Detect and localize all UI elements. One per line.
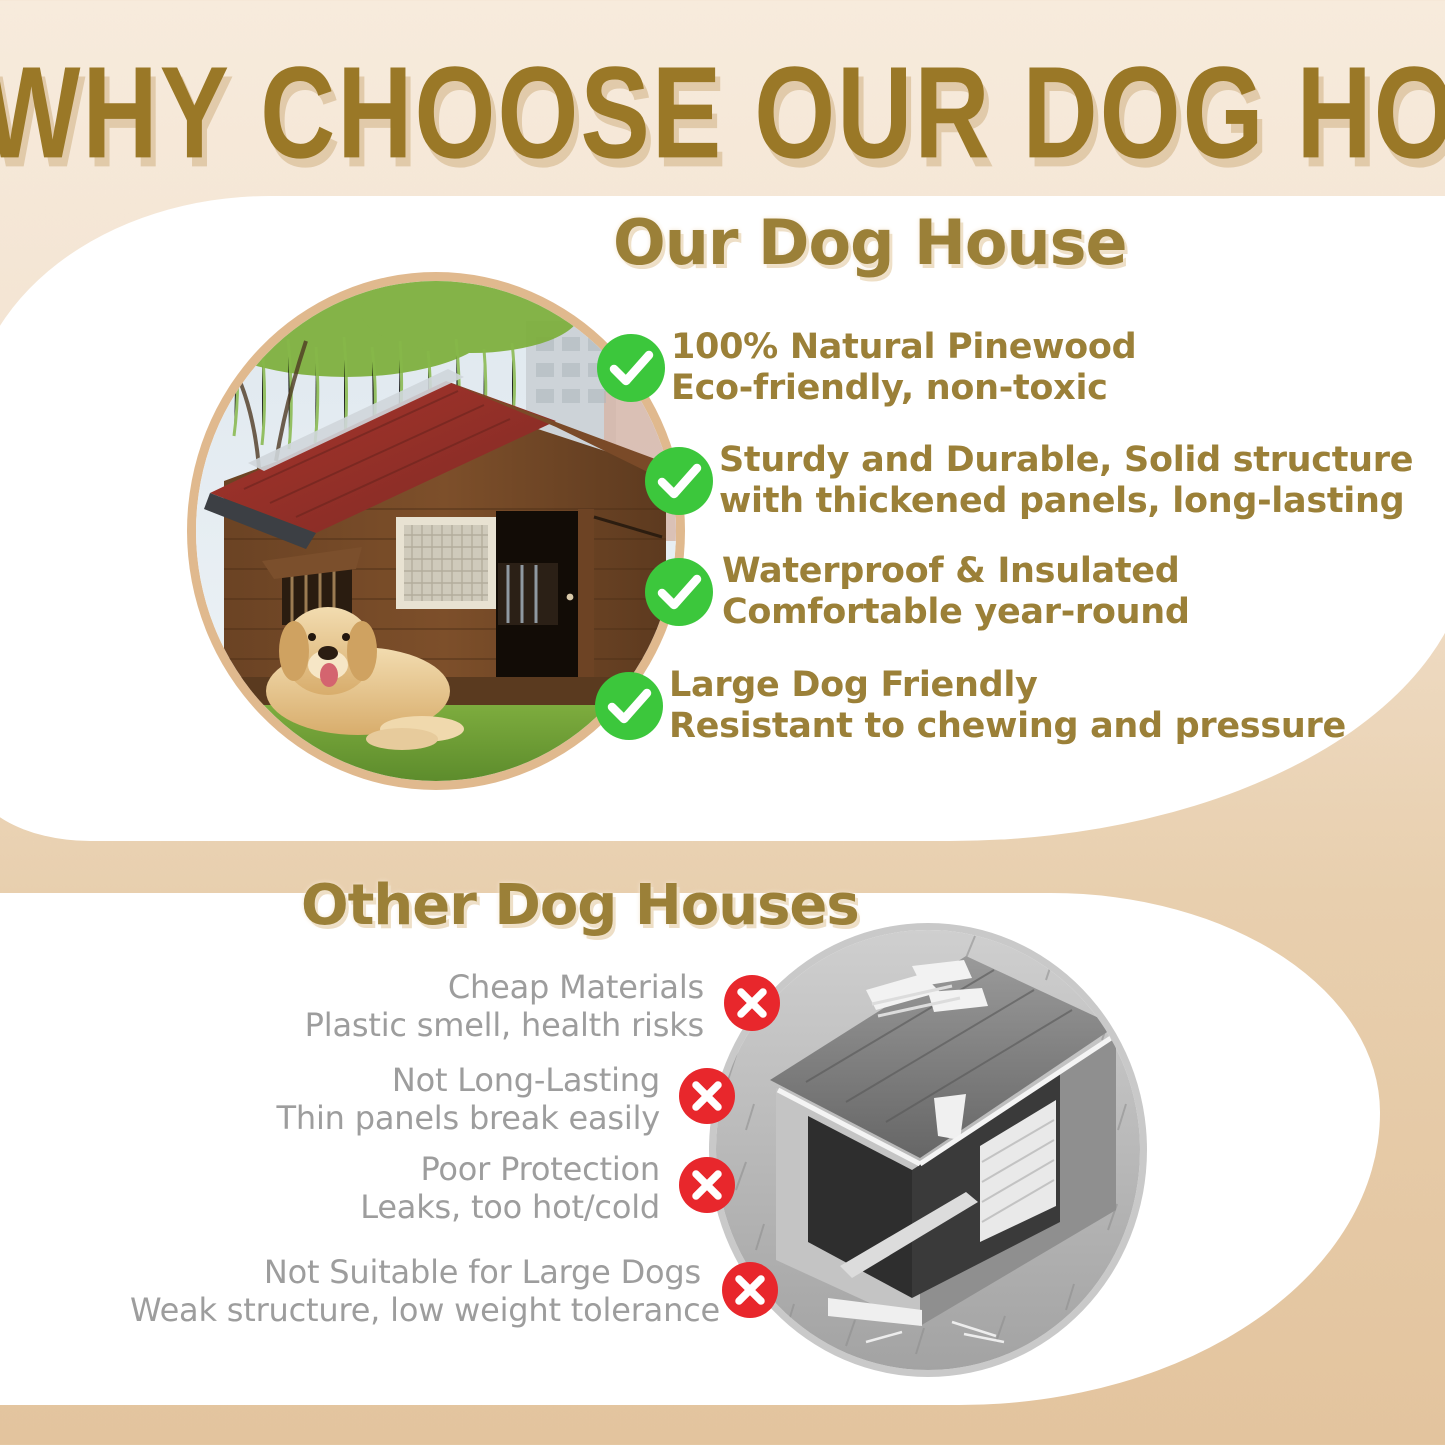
bad-bullet-1-line2: Plastic smell, health risks xyxy=(156,1006,704,1044)
bad-bullet-2-line1: Not Long-Lasting xyxy=(130,1061,660,1099)
bad-bullet-1: Cheap Materials Plastic smell, health ri… xyxy=(156,968,704,1045)
bad-bullet-3-line2: Leaks, too hot/cold xyxy=(130,1188,660,1226)
good-bullet-3-line1: Waterproof & Insulated xyxy=(722,551,1190,592)
cross-icon xyxy=(724,975,780,1031)
good-bullet-1: 100% Natural Pinewood Eco-friendly, non-… xyxy=(671,327,1136,409)
bad-bullet-4-line2: Weak structure, low weight tolerance xyxy=(130,1291,701,1329)
title-area: WHY CHOOSE OUR DOG HOUSE?" xyxy=(0,46,1445,150)
bad-bullet-2: Not Long-Lasting Thin panels break easil… xyxy=(130,1061,660,1138)
our-dog-house-heading: Our Dog House xyxy=(613,206,1127,279)
bad-bullet-3: Poor Protection Leaks, too hot/cold xyxy=(130,1150,660,1227)
check-icon xyxy=(595,672,663,740)
infographic-canvas: WHY CHOOSE OUR DOG HOUSE?" Our Dog House xyxy=(0,0,1445,1445)
other-dog-houses-heading: Other Dog Houses xyxy=(301,873,859,938)
bad-bullet-2-line2: Thin panels break easily xyxy=(130,1099,660,1137)
bad-bullet-3-line1: Poor Protection xyxy=(130,1150,660,1188)
check-icon xyxy=(645,447,713,515)
good-bullet-3-line2: Comfortable year-round xyxy=(722,592,1190,633)
good-bullet-4-line1: Large Dog Friendly xyxy=(669,665,1346,706)
good-bullet-1-line1: 100% Natural Pinewood xyxy=(671,327,1136,368)
good-bullet-1-line2: Eco-friendly, non-toxic xyxy=(671,368,1136,409)
good-bullet-2-line1: Sturdy and Durable, Solid structure xyxy=(719,440,1413,481)
page-title: WHY CHOOSE OUR DOG HOUSE?" xyxy=(0,46,1445,179)
bad-bullet-4-line1: Not Suitable for Large Dogs xyxy=(130,1253,701,1291)
check-icon xyxy=(597,334,665,402)
good-bullet-2-line2: with thickened panels, long-lasting xyxy=(719,481,1413,522)
good-bullet-4: Large Dog Friendly Resistant to chewing … xyxy=(669,665,1346,747)
good-bullet-3: Waterproof & Insulated Comfortable year-… xyxy=(722,551,1190,633)
good-bullet-2: Sturdy and Durable, Solid structure with… xyxy=(719,440,1413,522)
bad-bullet-1-line1: Cheap Materials xyxy=(156,968,704,1006)
cross-icon xyxy=(679,1157,735,1213)
cross-icon xyxy=(679,1068,735,1124)
bad-bullet-4: Not Suitable for Large Dogs Weak structu… xyxy=(130,1253,701,1330)
check-icon xyxy=(645,558,713,626)
good-bullet-4-line2: Resistant to chewing and pressure xyxy=(669,706,1346,747)
cross-icon xyxy=(722,1262,778,1318)
